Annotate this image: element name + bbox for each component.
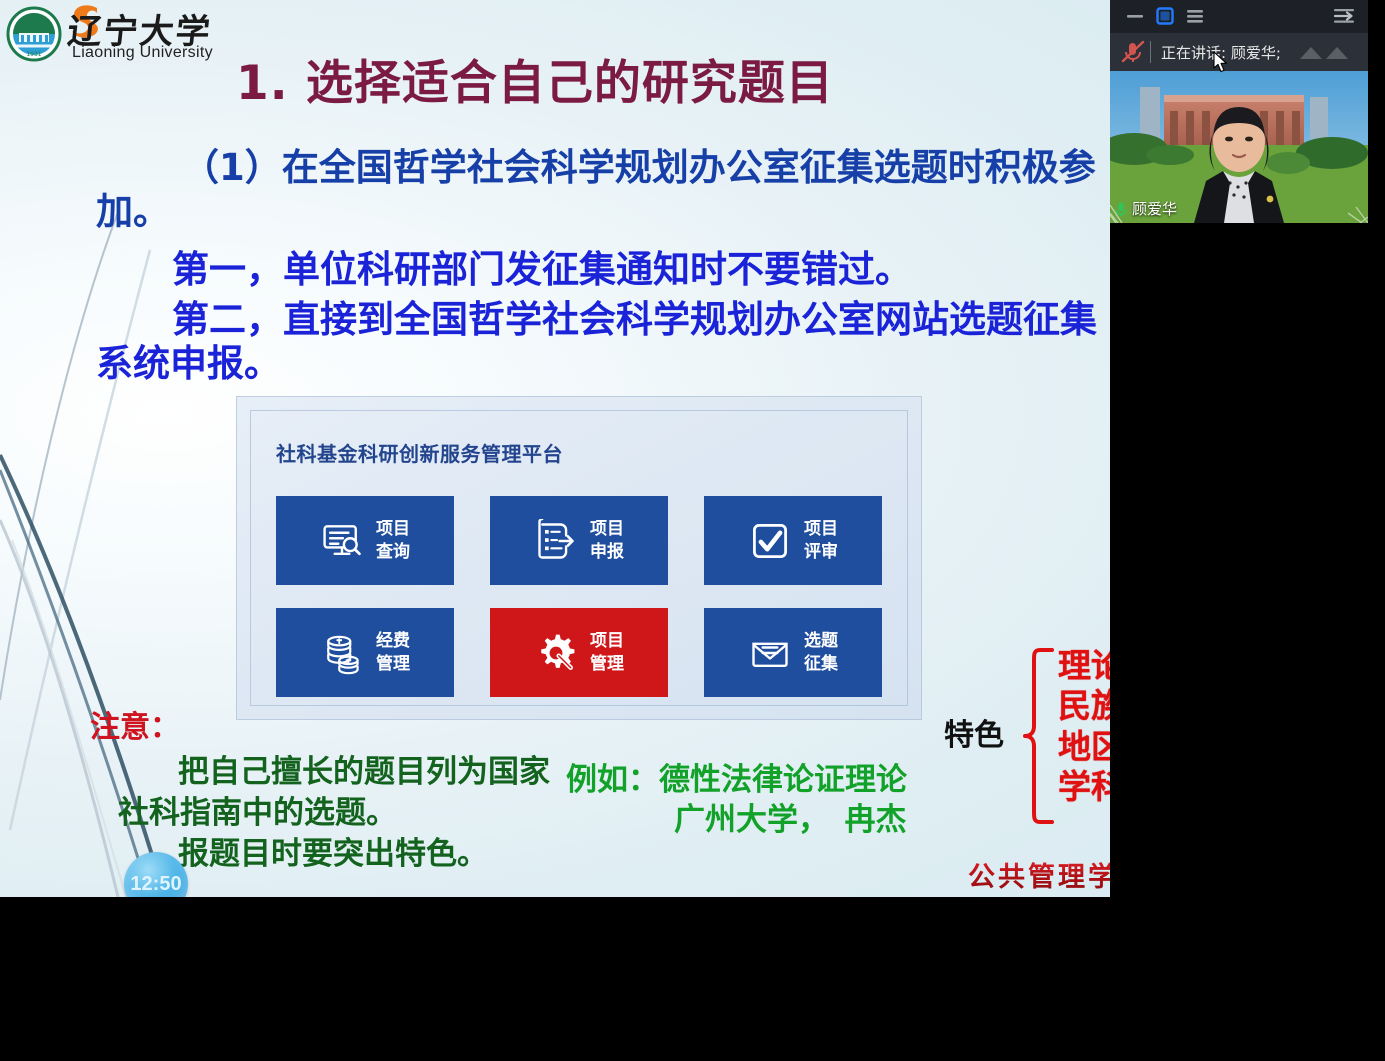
presentation-slide: 1931 辽宁大学 Liaoning University 1. 选择适合自己的…	[0, 0, 1185, 897]
video-sidebar: 正在讲话: 顾爱华;	[1110, 0, 1385, 897]
slide-paragraph-1: （1）在全国哲学社会科学规划办公室征集选题时积极参加。	[96, 146, 1096, 233]
double-chevron-icon[interactable]	[1296, 39, 1354, 65]
tile-fund-management[interactable]: 经费管理	[276, 608, 454, 697]
red-curly-brace-icon	[1022, 646, 1056, 826]
tile-label: 项目管理	[590, 630, 624, 676]
slide-paragraph-3: 第二，直接到全国哲学社会科学规划办公室网站选题征集系统申报。	[96, 298, 1106, 385]
checkbox-check-icon	[748, 519, 792, 563]
tile-label: 项目查询	[376, 518, 410, 564]
coins-stack-icon	[320, 631, 364, 675]
participant-name-label: 顾爱华	[1114, 198, 1177, 219]
participant-name: 顾爱华	[1132, 198, 1177, 219]
slide-title: 1. 选择适合自己的研究题目	[236, 44, 936, 113]
arrow-right-collapse-icon[interactable]	[1332, 6, 1358, 26]
tile-label: 经费管理	[376, 630, 410, 676]
feature-label: 特色	[944, 710, 1004, 754]
example-text: 例如：德性法律论证理论 广州大学， 冉杰	[566, 760, 986, 841]
tile-topic-collection[interactable]: 选题征集	[704, 608, 882, 697]
example-line-2: 广州大学， 冉杰	[566, 800, 986, 840]
screen: 1931 辽宁大学 Liaoning University 1. 选择适合自己的…	[0, 0, 1385, 897]
panel-title: 社科基金科研创新服务管理平台	[276, 438, 563, 467]
video-window-toolbar	[1110, 0, 1368, 33]
participant-video-tile[interactable]: 顾爱华	[1110, 71, 1368, 223]
tile-label: 项目评审	[804, 518, 838, 564]
document-submit-icon	[534, 519, 578, 563]
tile-project-apply[interactable]: 项目申报	[490, 496, 668, 585]
gear-wrench-icon	[534, 631, 578, 675]
speaking-text: 正在讲话: 顾爱华;	[1161, 42, 1281, 63]
note-line-1: 把自己擅长的题目列为国家	[118, 752, 588, 793]
university-seal-icon: 1931	[6, 6, 62, 62]
note-body: 把自己擅长的题目列为国家 社科指南中的选题。 报题目时要突出特色。	[118, 752, 588, 876]
bar-divider	[1150, 41, 1151, 63]
hamburger-menu-icon[interactable]	[1184, 6, 1206, 26]
svg-text:1931: 1931	[26, 51, 41, 58]
monitor-search-icon	[320, 519, 364, 563]
platform-screenshot-panel: 社科基金科研创新服务管理平台 项目查询	[236, 396, 922, 720]
university-logo: 1931 辽宁大学 Liaoning University	[6, 4, 221, 66]
restore-window-icon[interactable]	[1154, 6, 1176, 26]
envelope-icon	[748, 631, 792, 675]
tile-project-review[interactable]: 项目评审	[704, 496, 882, 585]
mic-on-icon	[1114, 201, 1128, 217]
mic-muted-icon[interactable]	[1116, 39, 1150, 65]
slide-paragraph-2: 第一，单位科研部门发征集通知时不要错过。	[172, 248, 1172, 292]
tile-label: 选题征集	[804, 630, 838, 676]
tile-project-query[interactable]: 项目查询	[276, 496, 454, 585]
tile-label: 项目申报	[590, 518, 624, 564]
note-label: 注意：	[90, 702, 180, 746]
note-line-3: 报题目时要突出特色。	[118, 834, 588, 875]
tile-project-management[interactable]: 项目管理	[490, 608, 668, 697]
note-line-2: 社科指南中的选题。	[118, 795, 397, 831]
minimize-icon[interactable]	[1124, 6, 1146, 26]
logo-english-name: Liaoning University	[72, 44, 213, 62]
speaking-status-bar: 正在讲话: 顾爱华;	[1110, 33, 1368, 71]
example-line-1: 例如：德性法律论证理论	[566, 762, 907, 798]
